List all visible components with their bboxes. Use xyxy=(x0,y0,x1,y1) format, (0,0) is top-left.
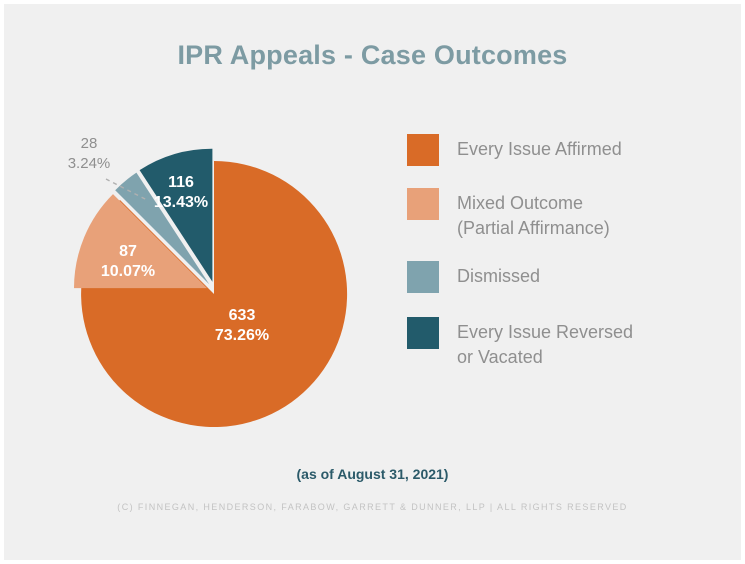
legend-swatch-icon xyxy=(407,317,439,349)
legend-item-label: Dismissed xyxy=(457,261,540,289)
legend-item-mixed-outcome[interactable]: Mixed Outcome (Partial Affirmance) xyxy=(407,188,727,241)
legend-item-label: Mixed Outcome (Partial Affirmance) xyxy=(457,188,610,241)
legend-item-label: Every Issue Reversed or Vacated xyxy=(457,317,633,370)
pie-chart-svg: 633 73.26% 87 10.07% 116 13.43% 28 3.24% xyxy=(44,124,394,474)
slice-label-affirmed-percent: 73.26% xyxy=(215,327,269,344)
chart-legend: Every Issue Affirmed Mixed Outcome (Part… xyxy=(407,134,727,370)
legend-swatch-icon xyxy=(407,188,439,220)
legend-swatch-icon xyxy=(407,134,439,166)
legend-item-every-issue-affirmed[interactable]: Every Issue Affirmed xyxy=(407,134,727,166)
legend-swatch-icon xyxy=(407,261,439,293)
slice-label-dismissed-value: 28 xyxy=(81,135,98,152)
slice-label-mixed-percent: 10.07% xyxy=(101,263,155,280)
slice-label-dismissed-percent: 3.24% xyxy=(68,155,111,172)
page-title: IPR Appeals - Case Outcomes xyxy=(4,40,741,71)
slice-label-reversed-value: 116 xyxy=(168,174,194,191)
slide-canvas: IPR Appeals - Case Outcomes 633 73.26% 8… xyxy=(4,4,741,560)
slice-label-mixed-value: 87 xyxy=(119,243,137,260)
slice-label-affirmed-value: 633 xyxy=(229,307,256,324)
legend-item-label: Every Issue Affirmed xyxy=(457,134,622,162)
pie-chart: 633 73.26% 87 10.07% 116 13.43% 28 3.24% xyxy=(44,124,394,474)
legend-item-every-issue-reversed[interactable]: Every Issue Reversed or Vacated xyxy=(407,317,727,370)
pie-slice-every-issue-affirmed[interactable] xyxy=(81,161,347,427)
legend-item-dismissed[interactable]: Dismissed xyxy=(407,261,727,293)
slice-label-reversed-percent: 13.43% xyxy=(154,194,208,211)
as-of-note: (as of August 31, 2021) xyxy=(4,466,741,482)
copyright-notice: (C) FINNEGAN, HENDERSON, FARABOW, GARRET… xyxy=(4,502,741,512)
